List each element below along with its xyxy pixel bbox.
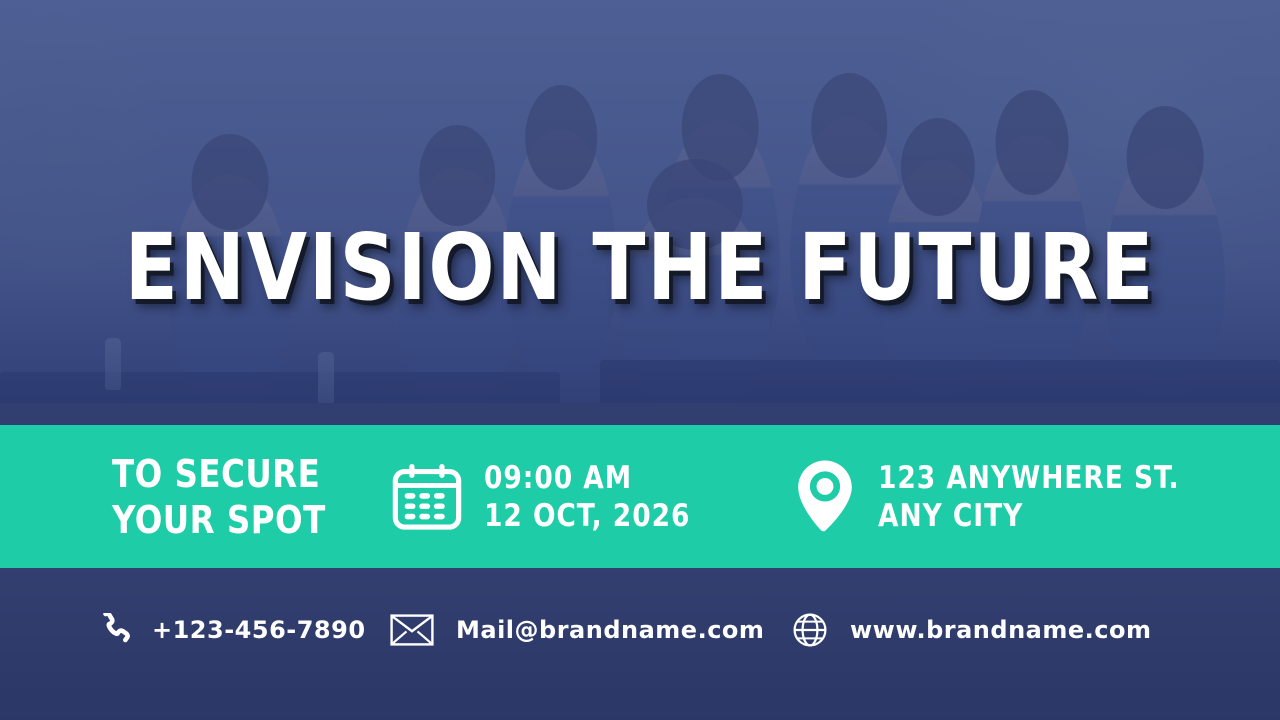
event-time: 09:00 AM xyxy=(484,459,690,497)
phone-number: +123-456-7890 xyxy=(152,616,366,644)
event-date: 12 OCT, 2026 xyxy=(484,497,690,535)
location-pin-icon xyxy=(792,458,858,536)
location-text-group: 123 ANYWHERE ST. ANY CITY xyxy=(878,459,1195,535)
date-time-text-group: 09:00 AM 12 OCT, 2026 xyxy=(484,459,701,535)
website-url: www.brandname.com xyxy=(850,616,1151,644)
cta-line-2: YOUR SPOT xyxy=(112,497,326,543)
contact-strip: +123-456-7890 Mail@brandname.com www.bra… xyxy=(0,600,1280,660)
phone-icon xyxy=(100,613,130,647)
globe-icon xyxy=(792,612,828,648)
envelope-icon xyxy=(390,614,434,646)
address-line-1: 123 ANYWHERE ST. xyxy=(878,459,1180,497)
calendar-icon xyxy=(390,460,464,534)
cta-block: TO SECURE YOUR SPOT xyxy=(0,451,380,543)
event-info-band: TO SECURE YOUR SPOT xyxy=(0,425,1280,568)
contact-phone[interactable]: +123-456-7890 xyxy=(0,613,380,647)
email-address: Mail@brandname.com xyxy=(456,616,764,644)
blue-overlay-top xyxy=(0,0,1280,425)
cta-line-1: TO SECURE xyxy=(112,451,326,497)
page-title: ENVISION THE FUTURE xyxy=(38,218,1241,318)
event-banner: ENVISION THE FUTURE TO SECURE YOUR SPOT xyxy=(0,0,1280,720)
contact-email[interactable]: Mail@brandname.com xyxy=(380,614,780,646)
address-line-2: ANY CITY xyxy=(878,497,1180,535)
contact-website[interactable]: www.brandname.com xyxy=(780,612,1280,648)
date-time-block: 09:00 AM 12 OCT, 2026 xyxy=(380,459,780,535)
cta-text-group: TO SECURE YOUR SPOT xyxy=(112,451,337,543)
location-block: 123 ANYWHERE ST. ANY CITY xyxy=(780,458,1280,536)
